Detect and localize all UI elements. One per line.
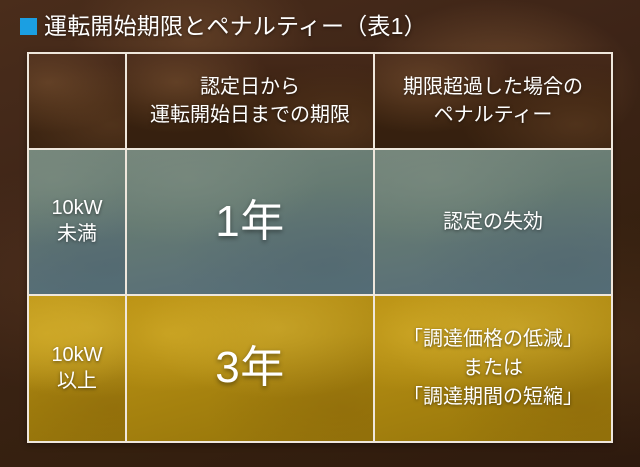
- header-cell-penalty: 期限超過した場合の ペナルティー: [373, 54, 611, 148]
- row-1-penalty-line3: 「調達期間の短縮」: [403, 383, 583, 412]
- row-0-deadline-cell: 1年: [125, 150, 373, 294]
- row-1-deadline-value: 3年: [215, 344, 284, 392]
- table-header-row: 認定日から 運転開始日までの期限 期限超過した場合の ペナルティー: [29, 54, 611, 148]
- row-1-deadline-cell: 3年: [125, 296, 373, 441]
- page-title: 運転開始期限とペナルティー（表1）: [44, 15, 427, 38]
- row-0-category-line1: 10kW: [51, 196, 102, 222]
- row-0-deadline-value: 1年: [215, 198, 284, 246]
- table-row: 10kW 未満 1年 認定の失効: [29, 148, 611, 294]
- row-1-category-line2: 以上: [51, 369, 102, 395]
- slide-canvas: 運転開始期限とペナルティー（表1） 認定日から 運転開始日までの期限 期限超過し…: [0, 0, 640, 467]
- row-1-penalty-line2: または: [403, 354, 583, 383]
- row-1-category-cell: 10kW 以上: [29, 296, 125, 441]
- header-deadline-line2: 運転開始日までの期限: [150, 101, 350, 129]
- blue-square-bullet-icon: [20, 18, 37, 35]
- header-cell-deadline: 認定日から 運転開始日までの期限: [125, 54, 373, 148]
- row-0-penalty-cell: 認定の失効: [373, 150, 611, 294]
- header-penalty-line2: ペナルティー: [403, 101, 583, 129]
- header-penalty-line1: 期限超過した場合の: [403, 73, 583, 101]
- row-0-category-cell: 10kW 未満: [29, 150, 125, 294]
- row-0-penalty-line1: 認定の失効: [443, 208, 543, 237]
- penalty-table: 認定日から 運転開始日までの期限 期限超過した場合の ペナルティー 10kW 未…: [27, 52, 613, 443]
- table-row: 10kW 以上 3年 「調達価格の低減」 または 「調達期間の短縮」: [29, 294, 611, 441]
- header-deadline-line1: 認定日から: [150, 73, 350, 101]
- row-1-penalty-line1: 「調達価格の低減」: [403, 325, 583, 354]
- row-1-penalty-cell: 「調達価格の低減」 または 「調達期間の短縮」: [373, 296, 611, 441]
- slide-title: 運転開始期限とペナルティー（表1）: [20, 8, 427, 44]
- row-1-category-line1: 10kW: [51, 343, 102, 369]
- header-cell-category: [29, 54, 125, 148]
- row-0-category-line2: 未満: [51, 222, 102, 248]
